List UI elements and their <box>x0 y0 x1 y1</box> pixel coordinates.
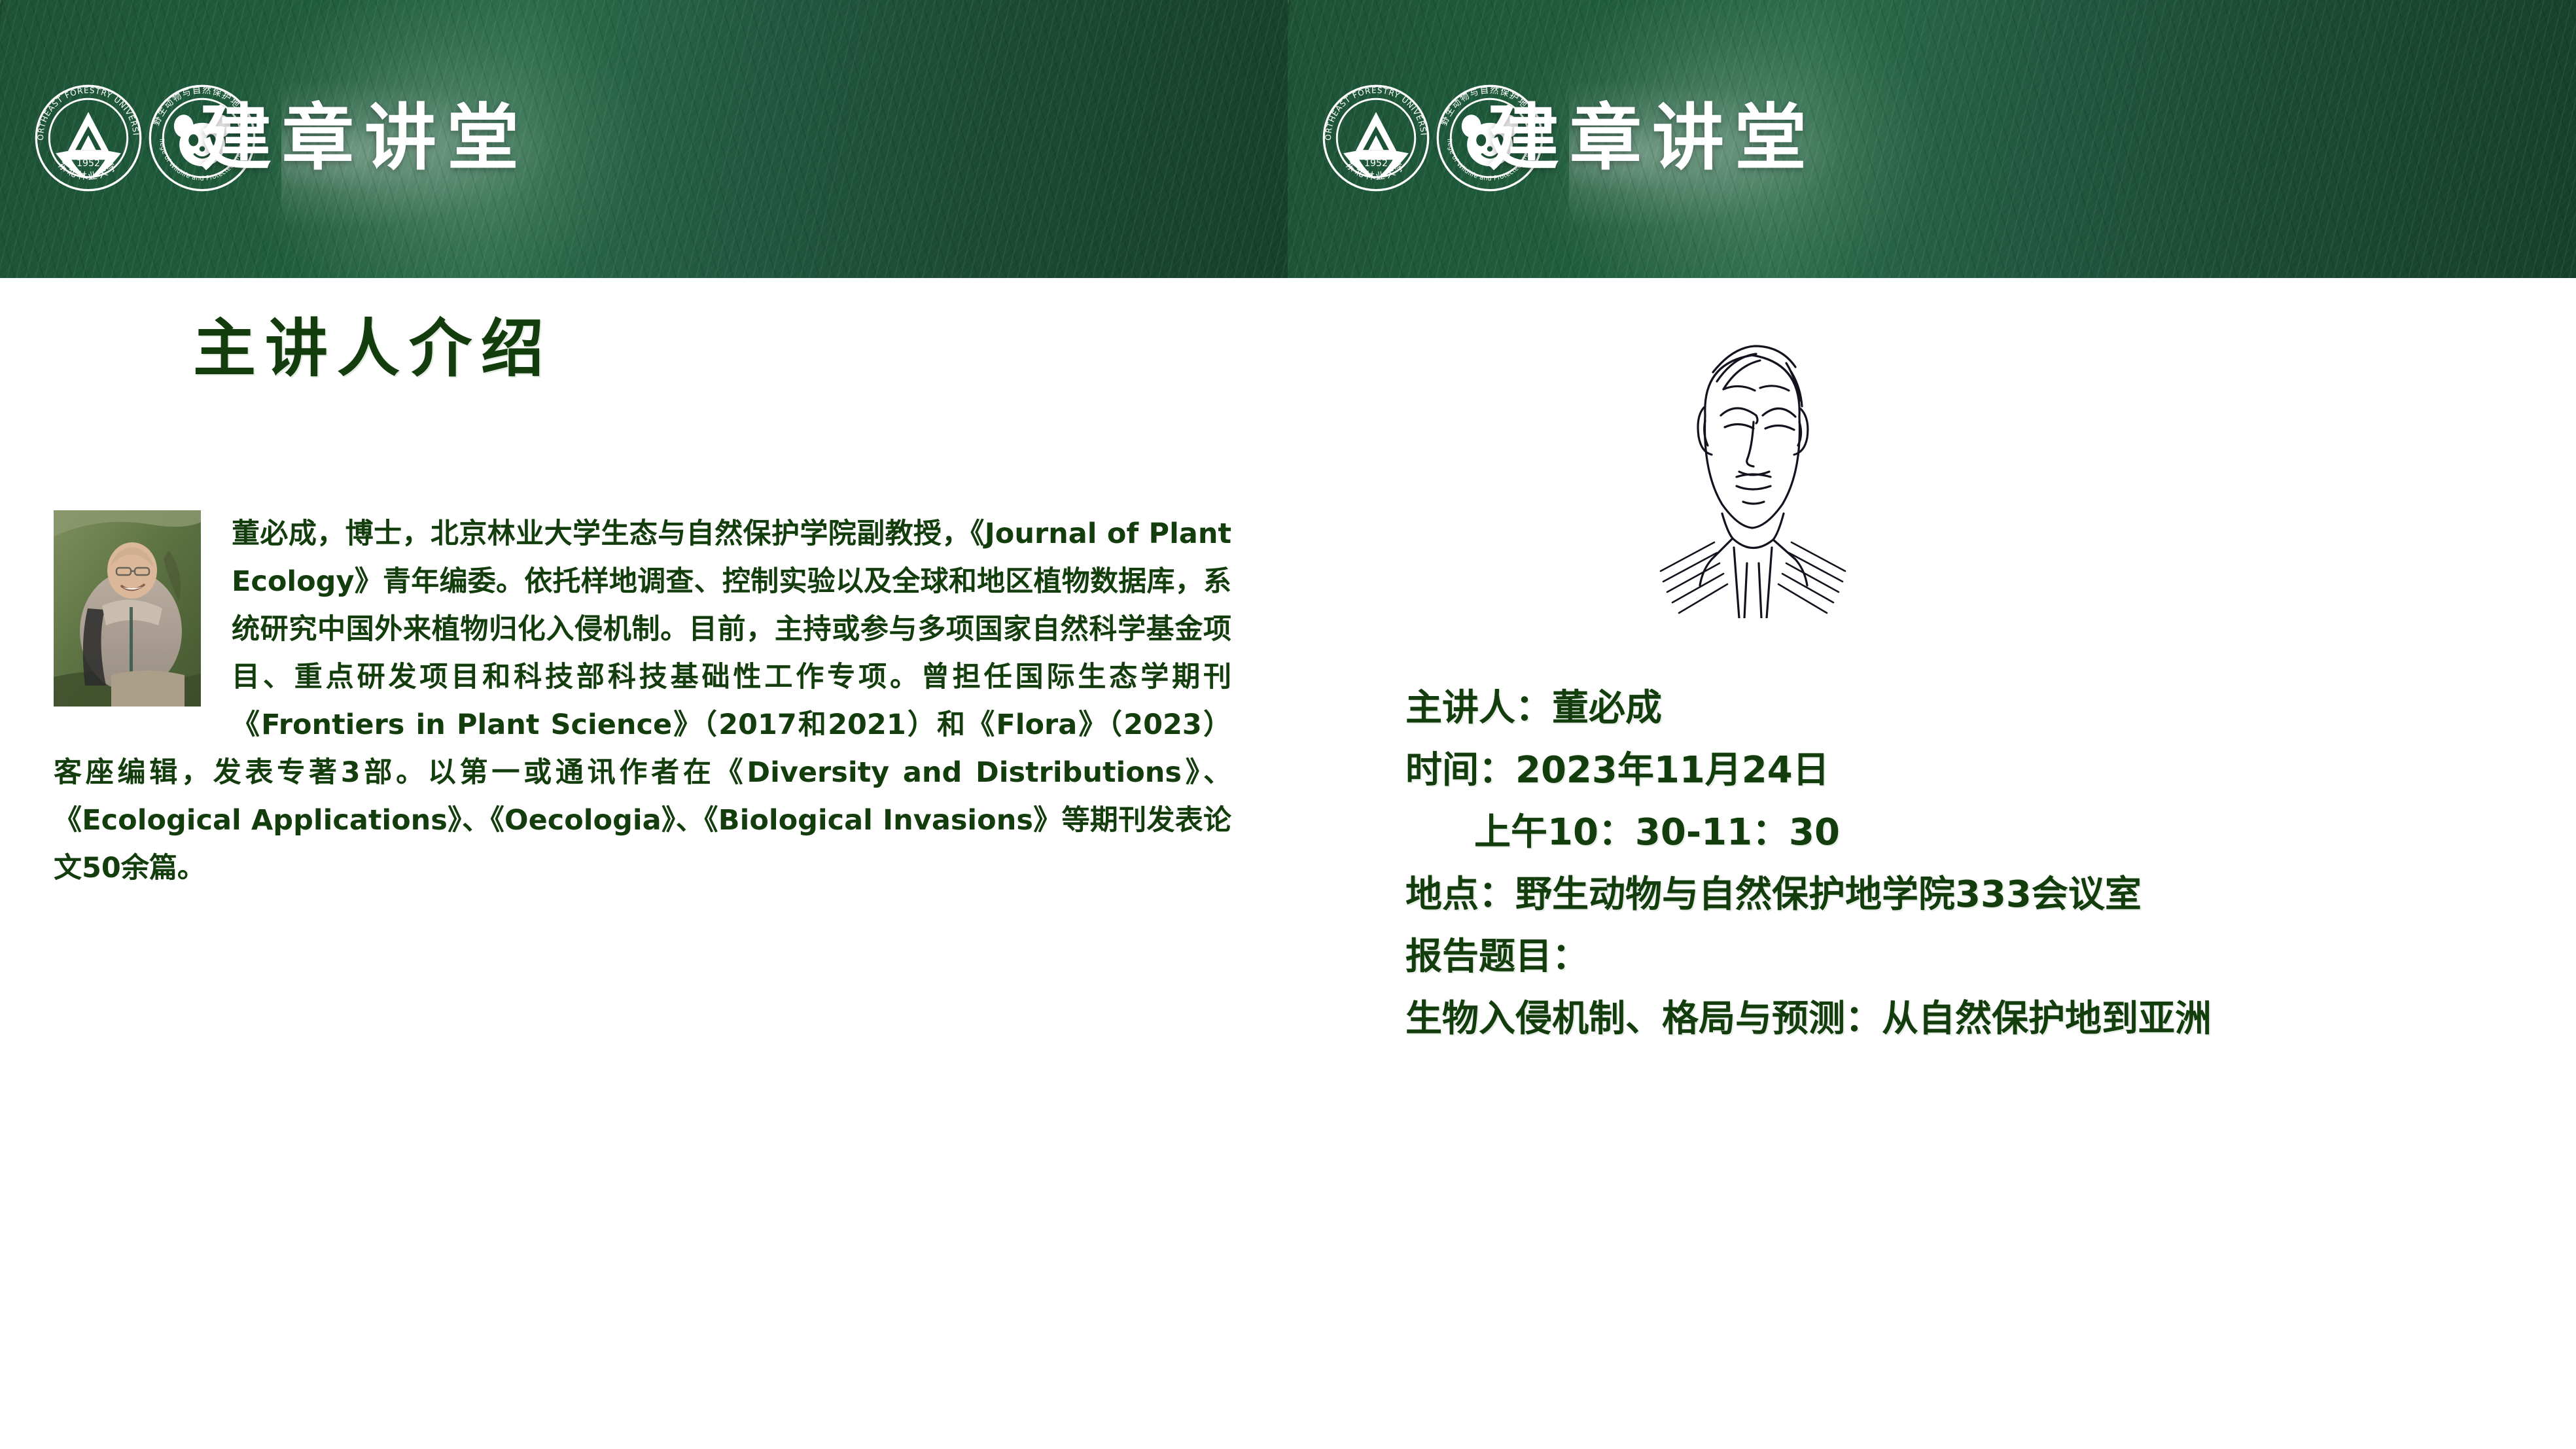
info-line-time-range: 上午10：30-11：30 <box>1405 801 2531 864</box>
poster-header-left: 1952 NORTHEAST FORESTRY UNIVERSITY 东北林业大… <box>0 0 1288 278</box>
northeast-forestry-university-seal-icon: 1952 NORTHEAST FORESTRY UNIVERSITY 东北林业大… <box>1322 84 1430 192</box>
poster-header-right: 1952 NORTHEAST FORESTRY UNIVERSITY 东北林业大… <box>1288 0 2576 278</box>
speaker-bio-text: 董必成，博士，北京林业大学生态与自然保护学院副教授，《Journal of Pl… <box>54 510 1231 892</box>
northeast-forestry-university-seal-icon: 1952 NORTHEAST FORESTRY UNIVERSITY 东北林业大… <box>34 84 143 192</box>
speaker-photo <box>54 510 217 710</box>
info-line-speaker: 主讲人：董必成 <box>1405 677 2531 739</box>
info-line-time: 时间：2023年11月24日 <box>1405 739 2531 801</box>
speaker-portrait-sketch <box>1634 317 1870 618</box>
poster-body-left: 主讲人介绍 <box>0 278 1288 1449</box>
header-title: 建章讲堂 <box>200 84 529 192</box>
svg-text:1952: 1952 <box>77 158 100 169</box>
section-title-speaker-intro: 主讲人介绍 <box>193 298 553 389</box>
header-title: 建章讲堂 <box>1487 84 1817 192</box>
svg-text:1952: 1952 <box>1364 158 1388 169</box>
info-line-topic-label: 报告题目： <box>1405 926 2531 988</box>
speaker-bio-paragraph: 董必成，博士，北京林业大学生态与自然保护学院副教授，《Journal of Pl… <box>54 510 1231 892</box>
info-line-topic: 生物入侵机制、格局与预测：从自然保护地到亚洲 <box>1405 988 2531 1050</box>
poster-panel-right: 1952 NORTHEAST FORESTRY UNIVERSITY 东北林业大… <box>1288 0 2576 1449</box>
poster-panel-left: 1952 NORTHEAST FORESTRY UNIVERSITY 东北林业大… <box>0 0 1288 1449</box>
info-line-place: 地点：野生动物与自然保护地学院333会议室 <box>1405 864 2531 926</box>
poster-body-right: 主讲人：董必成 时间：2023年11月24日 上午10：30-11：30 地点：… <box>1288 278 2576 1449</box>
event-info-list: 主讲人：董必成 时间：2023年11月24日 上午10：30-11：30 地点：… <box>1405 677 2531 1050</box>
